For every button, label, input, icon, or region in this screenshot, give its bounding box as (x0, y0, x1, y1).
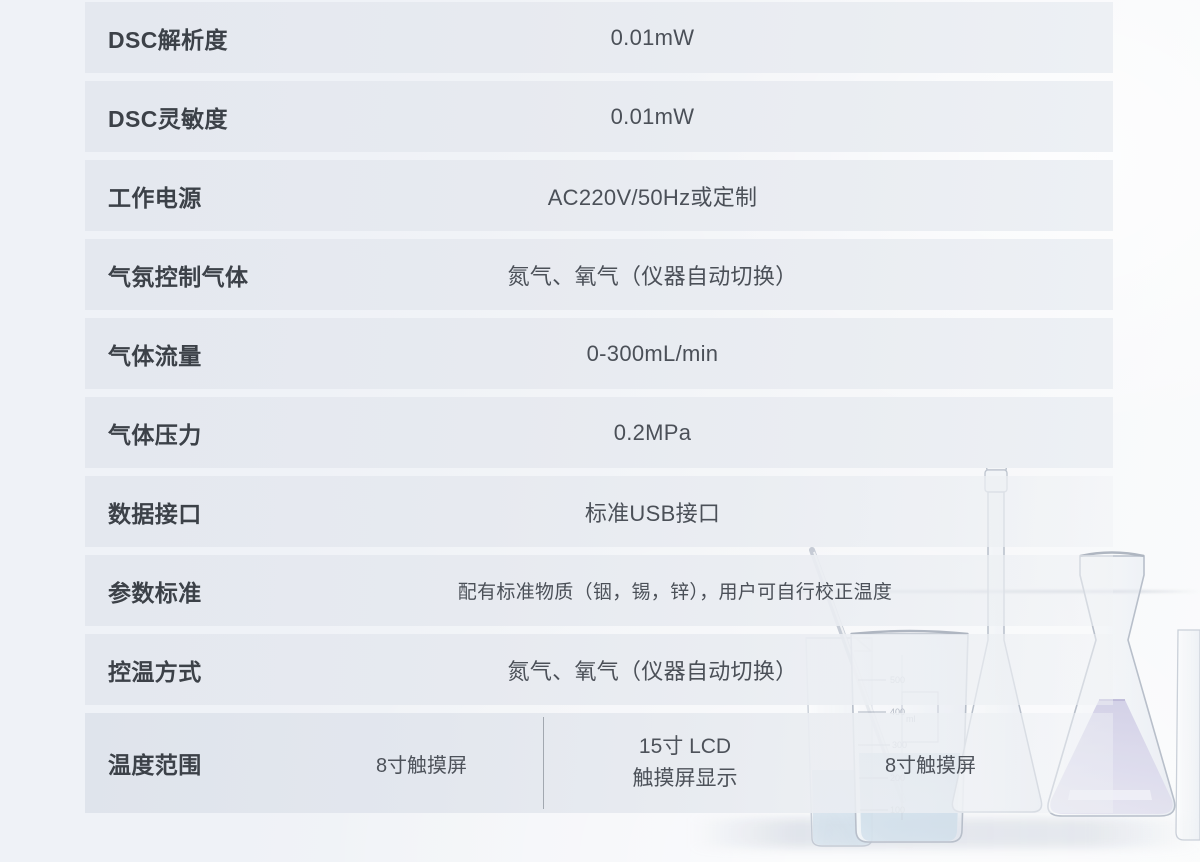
specification-table: DSC解析度 0.01mW DSC灵敏度 0.01mW 工作电源 AC220V/… (85, 2, 1113, 821)
table-row: 数据接口 标准USB接口 (85, 476, 1113, 547)
spec-value-touchscreen-right: 8寸触摸屏 (826, 749, 1113, 778)
spec-value: 标准USB接口 (357, 496, 1113, 528)
spec-label: DSC解析度 (85, 21, 357, 55)
spec-sheet-page: 500 400 300 200 100 ml (0, 0, 1200, 862)
spec-value: 0.01mW (357, 25, 1113, 51)
spec-label: 气氛控制气体 (85, 258, 357, 292)
spec-label: DSC灵敏度 (85, 100, 357, 134)
spec-value: 氮气、氧气（仪器自动切换） (357, 654, 1113, 686)
lcd-line-1: 15寸 LCD (544, 731, 826, 763)
spec-value: AC220V/50Hz或定制 (357, 180, 1113, 212)
table-row: 工作电源 AC220V/50Hz或定制 (85, 160, 1113, 231)
lcd-line-2: 触摸屏显示 (544, 763, 826, 795)
spec-value: 配有标准物质（铟，锡，锌），用户可自行校正温度 (357, 577, 1113, 604)
table-row: DSC解析度 0.01mW (85, 2, 1113, 73)
table-row: 控温方式 氮气、氧气（仪器自动切换） (85, 634, 1113, 705)
table-row-temperature-range: 温度范围 8寸触摸屏 15寸 LCD 触摸屏显示 8寸触摸屏 (85, 713, 1113, 813)
table-row: 气体压力 0.2MPa (85, 397, 1113, 468)
spec-label: 温度范围 (85, 746, 300, 780)
table-row: DSC灵敏度 0.01mW (85, 81, 1113, 152)
spec-value-touchscreen-left: 8寸触摸屏 (300, 749, 543, 778)
spec-value: 0.01mW (357, 104, 1113, 130)
spec-label: 参数标准 (85, 574, 357, 608)
spec-value: 0.2MPa (357, 420, 1113, 446)
table-row: 参数标准 配有标准物质（铟，锡，锌），用户可自行校正温度 (85, 555, 1113, 626)
spec-label: 气体流量 (85, 337, 357, 371)
spec-label: 数据接口 (85, 495, 357, 529)
spec-value: 氮气、氧气（仪器自动切换） (357, 259, 1113, 291)
spec-label: 气体压力 (85, 416, 357, 450)
table-row: 气氛控制气体 氮气、氧气（仪器自动切换） (85, 239, 1113, 310)
spec-value: 0-300mL/min (357, 341, 1113, 367)
spec-label: 控温方式 (85, 653, 357, 687)
spec-label: 工作电源 (85, 179, 357, 213)
spec-value-lcd-display: 15寸 LCD 触摸屏显示 (544, 731, 826, 795)
table-row: 气体流量 0-300mL/min (85, 318, 1113, 389)
